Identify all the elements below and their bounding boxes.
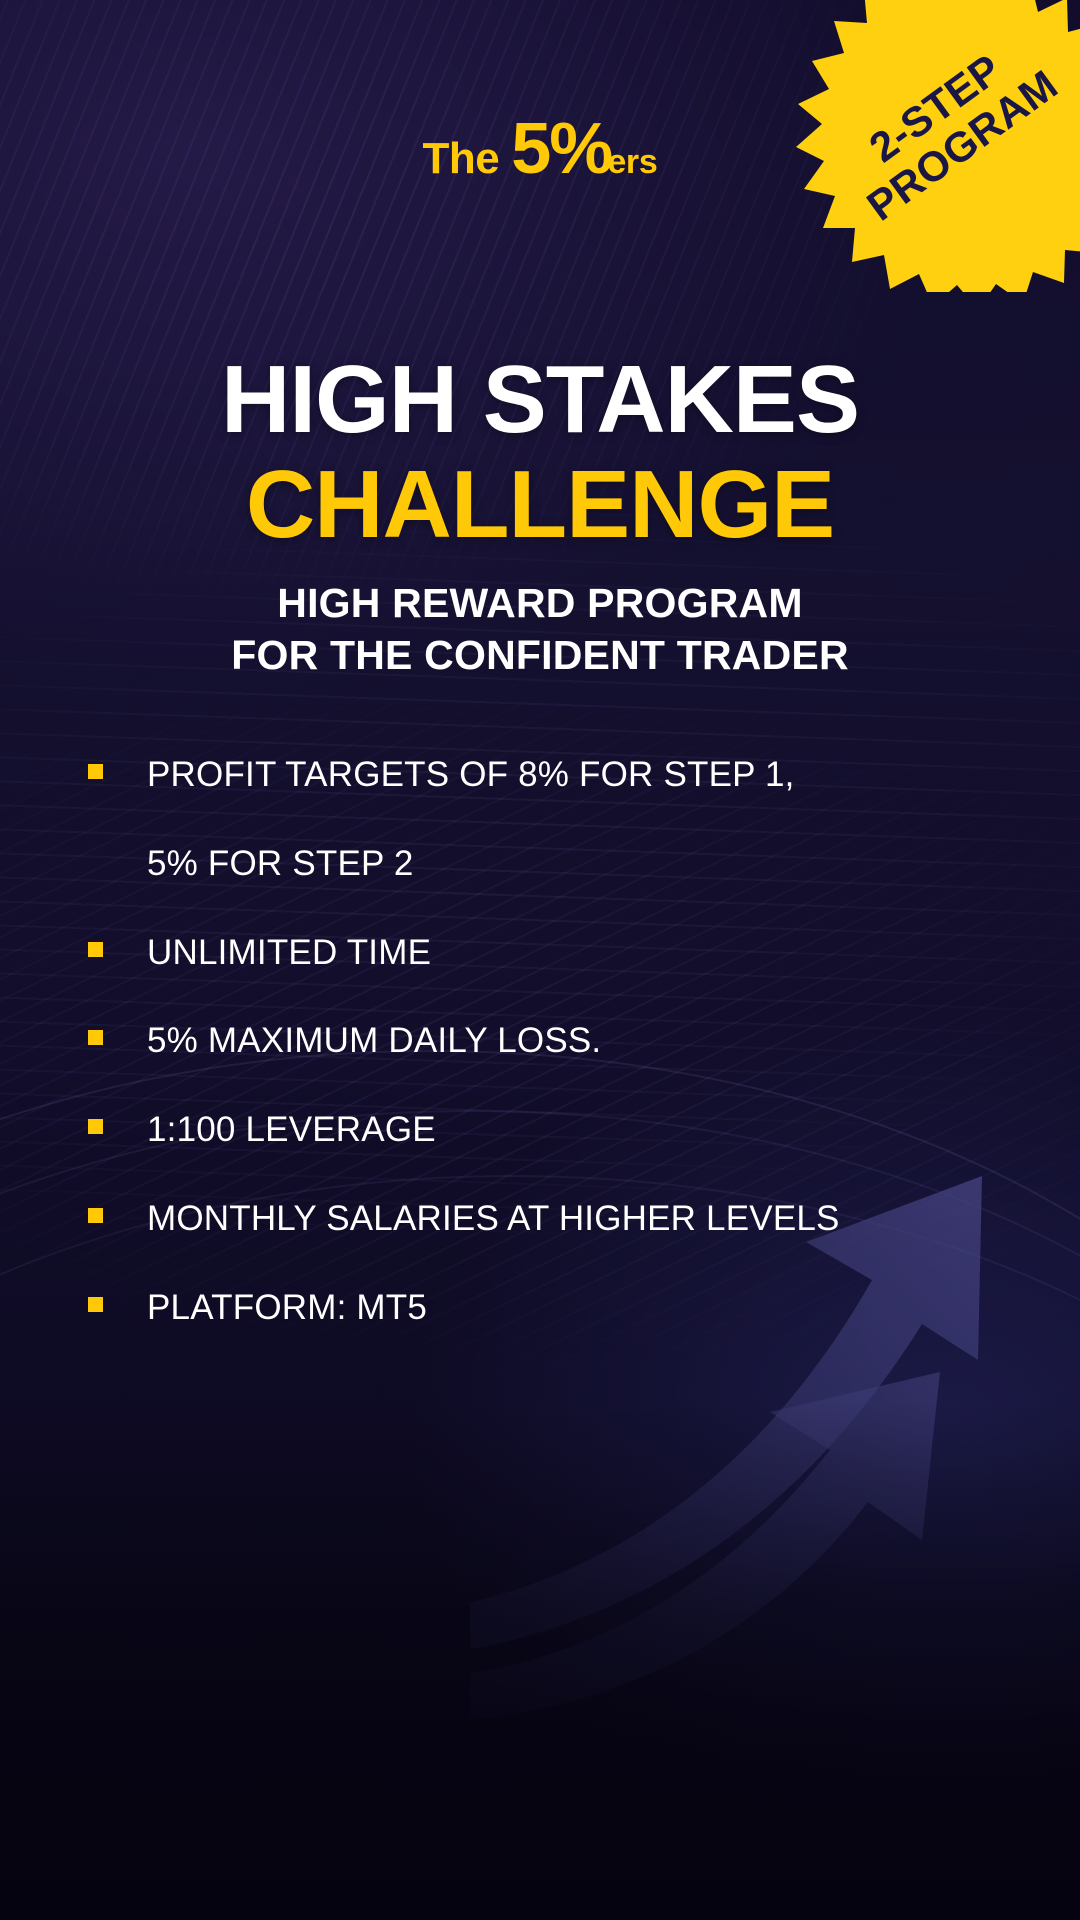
bullet-square-icon [88,1119,103,1134]
list-item-label: 5% MAXIMUM DAILY LOSS. [147,1016,601,1067]
list-item-label: PROFIT TARGETS OF 8% FOR STEP 1, [147,750,795,801]
list-item: 5% FOR STEP 2 [88,839,1020,890]
logo-ers: ers [607,143,657,181]
list-item-label: UNLIMITED TIME [147,928,431,979]
logo-the: The [423,134,500,183]
headline-line-1: HIGH STAKES [0,352,1080,448]
list-item: 5% MAXIMUM DAILY LOSS. [88,1016,1020,1067]
bullet-square-icon [88,764,103,779]
promo-poster: 2-STEP PROGRAM The5%ers HIGH STAKES CHAL… [0,0,1080,1920]
bullet-square-icon [88,1297,103,1312]
list-item-label: 5% FOR STEP 2 [147,839,413,890]
ascending-arrow-icon-back [470,1372,940,1720]
list-item-label: PLATFORM: MT5 [147,1283,427,1334]
list-item: UNLIMITED TIME [88,928,1020,979]
bullet-square-icon [88,942,103,957]
headline-block: HIGH STAKES CHALLENGE [0,352,1080,556]
list-item: MONTHLY SALARIES AT HIGHER LEVELS [88,1194,1020,1245]
list-item-label: 1:100 LEVERAGE [147,1105,436,1156]
list-item: 1:100 LEVERAGE [88,1105,1020,1156]
list-item-label: MONTHLY SALARIES AT HIGHER LEVELS [147,1194,840,1245]
list-item: PLATFORM: MT5 [88,1283,1020,1334]
bullet-square-icon [88,1208,103,1223]
subheading-line-1: HIGH REWARD PROGRAM [0,578,1080,630]
list-item: PROFIT TARGETS OF 8% FOR STEP 1, [88,750,1020,801]
headline-line-2: CHALLENGE [0,454,1080,556]
subheading-line-2: FOR THE CONFIDENT TRADER [0,630,1080,682]
brand-logo: The5%ers [0,108,1080,190]
logo-five-percent: 5% [511,109,611,189]
bottom-fade-overlay [0,1400,1080,1920]
feature-list: PROFIT TARGETS OF 8% FOR STEP 1, 5% FOR … [88,750,1020,1371]
bullet-square-icon [88,1030,103,1045]
subheading-block: HIGH REWARD PROGRAM FOR THE CONFIDENT TR… [0,578,1080,681]
